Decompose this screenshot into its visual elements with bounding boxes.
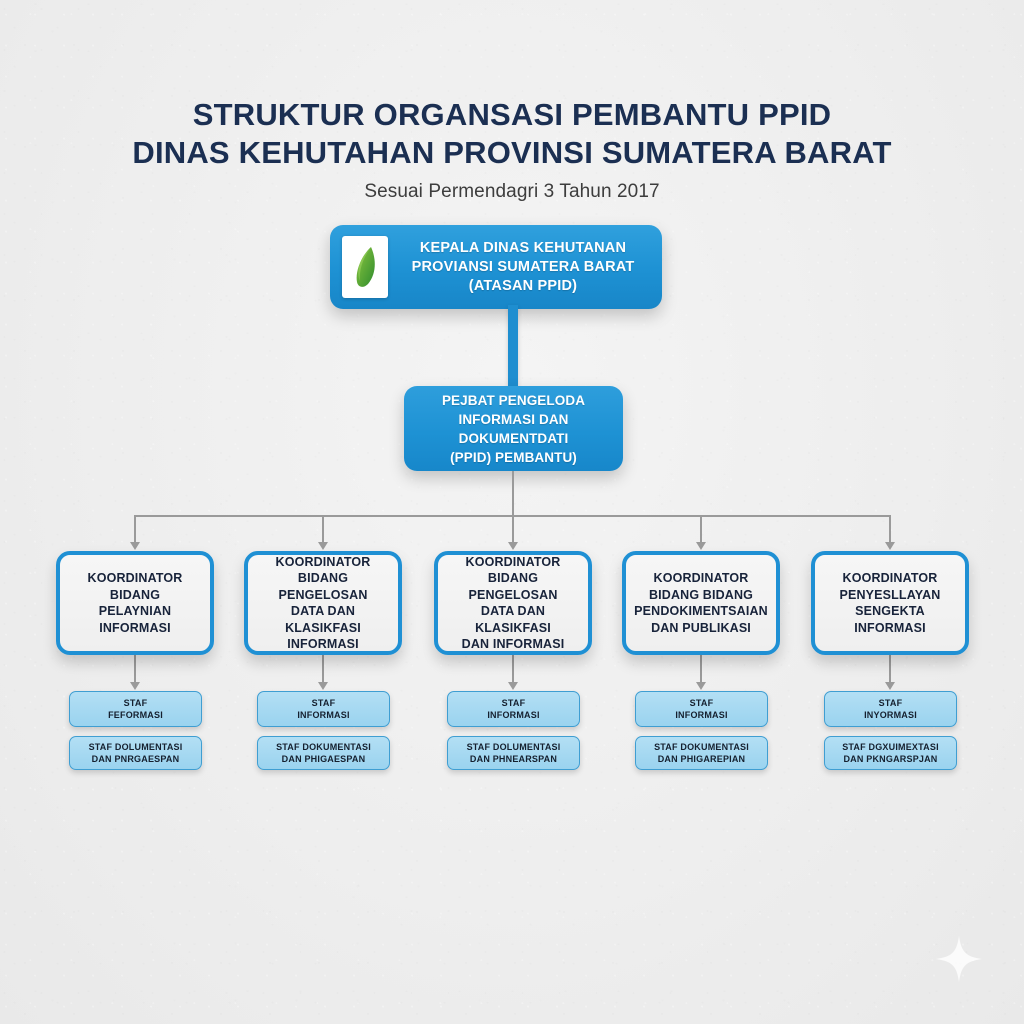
coord5-line-2: PENYESLLAYAN xyxy=(840,587,941,604)
staff1-col4-line-1: STAF xyxy=(675,697,727,709)
node-kepala-dinas[interactable]: KEPALA DINAS KEHUTANAN PROVIANSI SUMATER… xyxy=(330,225,662,309)
node-coordinator-3-label: KOORDINATOR BIDANG PENGELOSAN DATA DAN K… xyxy=(438,554,588,653)
node-staff1-col2[interactable]: STAF INFORMASI xyxy=(257,691,390,727)
staff1-col5-line-2: INYORMASI xyxy=(864,709,917,721)
node-staff2-col4[interactable]: STAF DOKUMENTASI DAN PHIGAREPIAN xyxy=(635,736,768,770)
node-ppid-pembantu-label: PEJBAT PENGELODA INFORMASI DAN DOKUMENTD… xyxy=(404,391,623,467)
node-coordinator-5-label: KOORDINATOR PENYESLLAYAN SENGEKTA INFORM… xyxy=(834,570,947,636)
node-staff2-col1-label: STAF DOLUMENTASI DAN PNRGAESPAN xyxy=(85,741,187,765)
node-staff1-col3-label: STAF INFORMASI xyxy=(483,697,543,721)
connector-arrowhead xyxy=(508,542,518,550)
leaf-logo-card xyxy=(342,236,388,298)
ppid-line-3: (PPID) PEMBANTU) xyxy=(410,448,617,467)
connector-arrowhead xyxy=(885,682,895,690)
staff2-col2-line-1: STAF DOKUMENTASI xyxy=(276,741,371,753)
staff2-col5-line-1: STAF DGXUIMEXTASI xyxy=(842,741,939,753)
coord1-line-2: BIDANG xyxy=(88,587,183,604)
node-staff1-col5-label: STAF INYORMASI xyxy=(860,697,921,721)
staff1-col4-line-2: INFORMASI xyxy=(675,709,727,721)
node-staff2-col3[interactable]: STAF DOLUMENTASI DAN PHNEARSPAN xyxy=(447,736,580,770)
connector-arrowhead xyxy=(508,682,518,690)
node-staff1-col2-label: STAF INFORMASI xyxy=(293,697,353,721)
coord1-line-4: INFORMASI xyxy=(88,620,183,637)
staff2-col3-line-2: DAN PHNEARSPAN xyxy=(467,753,561,765)
connector-segment xyxy=(889,655,891,683)
staff2-col3-line-1: STAF DOLUMENTASI xyxy=(467,741,561,753)
node-staff2-col4-label: STAF DOKUMENTASI DAN PHIGAREPIAN xyxy=(650,741,753,765)
coord2-line-4: INFORMASI xyxy=(254,636,392,653)
node-staff2-col1[interactable]: STAF DOLUMENTASI DAN PNRGAESPAN xyxy=(69,736,202,770)
connector-segment xyxy=(889,515,891,543)
coord2-line-3: DATA DAN KLASIKFASI xyxy=(254,603,392,636)
staff2-col4-line-2: DAN PHIGAREPIAN xyxy=(654,753,749,765)
coord4-line-3: PENDOKIMENTSAIAN xyxy=(634,603,768,620)
page-title: STRUKTUR ORGANSASI PEMBANTU PPID DINAS K… xyxy=(0,96,1024,203)
node-staff1-col5[interactable]: STAF INYORMASI xyxy=(824,691,957,727)
connector-segment xyxy=(700,515,702,543)
connector-segment xyxy=(134,655,136,683)
staff1-col2-line-2: INFORMASI xyxy=(297,709,349,721)
node-coordinator-4[interactable]: KOORDINATOR BIDANG BIDANG PENDOKIMENTSAI… xyxy=(622,551,780,655)
coord2-line-1: KOORDINATOR xyxy=(254,554,392,571)
node-coordinator-1-label: KOORDINATOR BIDANG PELAYNIAN INFORMASI xyxy=(82,570,189,636)
coord2-line-2: BIDANG PENGELOSAN xyxy=(254,570,392,603)
node-coordinator-5[interactable]: KOORDINATOR PENYESLLAYAN SENGEKTA INFORM… xyxy=(811,551,969,655)
coord5-line-1: KOORDINATOR xyxy=(840,570,941,587)
connector-arrowhead xyxy=(318,542,328,550)
ppid-line-2: INFORMASI DAN DOKUMENTDATI xyxy=(410,410,617,448)
node-staff2-col2[interactable]: STAF DOKUMENTASI DAN PHIGAESPAN xyxy=(257,736,390,770)
connector-ppid-stem xyxy=(512,471,514,516)
staff1-col1-line-2: FEFORMASI xyxy=(108,709,163,721)
staff1-col2-line-1: STAF xyxy=(297,697,349,709)
coord4-line-4: DAN PUBLIKASI xyxy=(634,620,768,637)
node-staff2-col5-label: STAF DGXUIMEXTASI DAN PKNGARSPJAN xyxy=(838,741,943,765)
title-line-1: STRUKTUR ORGANSASI PEMBANTU PPID xyxy=(0,96,1024,134)
node-staff2-col2-label: STAF DOKUMENTASI DAN PHIGAESPAN xyxy=(272,741,375,765)
coord3-line-1: KOORDINATOR xyxy=(444,554,582,571)
coord3-line-3: DATA DAN KLASIKFASI xyxy=(444,603,582,636)
connector-segment xyxy=(134,515,136,543)
staff1-col1-line-1: STAF xyxy=(108,697,163,709)
org-chart-canvas: STRUKTUR ORGANSASI PEMBANTU PPID DINAS K… xyxy=(0,0,1024,1024)
staff2-col1-line-2: DAN PNRGAESPAN xyxy=(89,753,183,765)
coord3-line-2: BIDANG PENGELOSAN xyxy=(444,570,582,603)
node-coordinator-2[interactable]: KOORDINATOR BIDANG PENGELOSAN DATA DAN K… xyxy=(244,551,402,655)
staff1-col3-line-1: STAF xyxy=(487,697,539,709)
ppid-line-1: PEJBAT PENGELODA xyxy=(410,391,617,410)
subtitle: Sesuai Permendagri 3 Tahun 2017 xyxy=(0,181,1024,203)
connector-segment xyxy=(700,655,702,683)
connector-segment xyxy=(512,655,514,683)
node-coordinator-1[interactable]: KOORDINATOR BIDANG PELAYNIAN INFORMASI xyxy=(56,551,214,655)
node-staff1-col3[interactable]: STAF INFORMASI xyxy=(447,691,580,727)
connector-segment xyxy=(322,515,324,543)
node-staff2-col5[interactable]: STAF DGXUIMEXTASI DAN PKNGARSPJAN xyxy=(824,736,957,770)
title-line-2: DINAS KEHUTAHAN PROVINSI SUMATERA BARAT xyxy=(0,134,1024,172)
coord3-line-4: DAN INFORMASI xyxy=(444,636,582,653)
node-staff1-col4[interactable]: STAF INFORMASI xyxy=(635,691,768,727)
node-kepala-dinas-label: KEPALA DINAS KEHUTANAN PROVIANSI SUMATER… xyxy=(396,239,650,296)
node-coordinator-3[interactable]: KOORDINATOR BIDANG PENGELOSAN DATA DAN K… xyxy=(434,551,592,655)
connector-arrowhead xyxy=(696,682,706,690)
coord4-line-1: KOORDINATOR xyxy=(634,570,768,587)
kepala-line-3: (ATASAN PPID) xyxy=(396,277,650,296)
node-staff1-col1[interactable]: STAF FEFORMASI xyxy=(69,691,202,727)
node-coordinator-4-label: KOORDINATOR BIDANG BIDANG PENDOKIMENTSAI… xyxy=(628,570,774,636)
staff2-col4-line-1: STAF DOKUMENTASI xyxy=(654,741,749,753)
staff1-col5-line-1: STAF xyxy=(864,697,917,709)
staff2-col5-line-2: DAN PKNGARSPJAN xyxy=(842,753,939,765)
connector-arrowhead xyxy=(885,542,895,550)
node-staff1-col1-label: STAF FEFORMASI xyxy=(104,697,167,721)
coord1-line-3: PELAYNIAN xyxy=(88,603,183,620)
node-coordinator-2-label: KOORDINATOR BIDANG PENGELOSAN DATA DAN K… xyxy=(248,554,398,653)
node-staff2-col3-label: STAF DOLUMENTASI DAN PHNEARSPAN xyxy=(463,741,565,765)
connector-segment xyxy=(512,515,514,543)
node-ppid-pembantu[interactable]: PEJBAT PENGELODA INFORMASI DAN DOKUMENTD… xyxy=(404,386,623,471)
kepala-line-2: PROVIANSI SUMATERA BARAT xyxy=(396,258,650,277)
connector-arrowhead xyxy=(318,682,328,690)
connector-arrowhead xyxy=(130,682,140,690)
staff2-col1-line-1: STAF DOLUMENTASI xyxy=(89,741,183,753)
coord4-line-2: BIDANG BIDANG xyxy=(634,587,768,604)
node-staff1-col4-label: STAF INFORMASI xyxy=(671,697,731,721)
coord1-line-1: KOORDINATOR xyxy=(88,570,183,587)
kepala-line-1: KEPALA DINAS KEHUTANAN xyxy=(396,239,650,258)
sparkle-watermark-icon xyxy=(936,936,982,982)
green-leaf-icon xyxy=(350,244,380,290)
staff1-col3-line-2: INFORMASI xyxy=(487,709,539,721)
connector-arrowhead xyxy=(130,542,140,550)
connector-kepala-to-ppid xyxy=(508,305,518,391)
staff2-col2-line-2: DAN PHIGAESPAN xyxy=(276,753,371,765)
connector-arrowhead xyxy=(696,542,706,550)
coord5-line-3: SENGEKTA xyxy=(840,603,941,620)
coord5-line-4: INFORMASI xyxy=(840,620,941,637)
connector-segment xyxy=(322,655,324,683)
